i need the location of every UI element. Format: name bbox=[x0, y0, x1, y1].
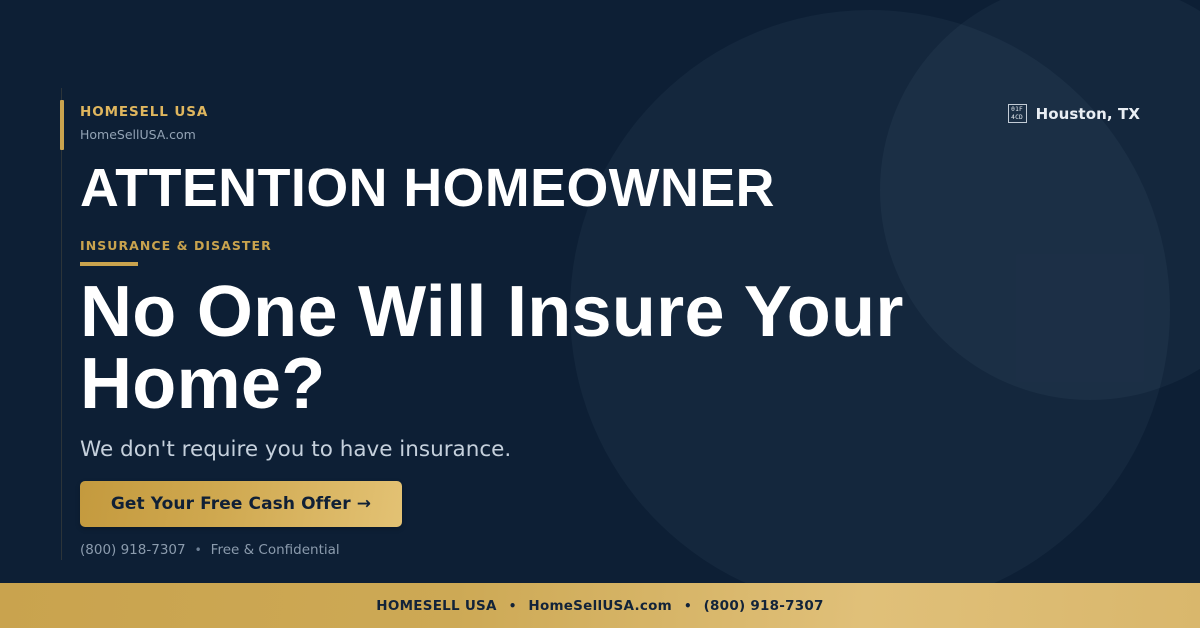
footer-separator-two: • bbox=[684, 599, 692, 613]
get-free-cash-offer-button[interactable]: Get Your Free Cash Offer → bbox=[80, 481, 402, 527]
page-title: No One Will Insure Your Home? bbox=[80, 276, 980, 420]
location-label: Houston, TX bbox=[1036, 105, 1140, 123]
trust-line: (800) 918-7307 • Free & Confidential bbox=[80, 541, 340, 559]
left-gold-accent-bar bbox=[60, 100, 64, 150]
footer-brand: HOMESELL USA bbox=[376, 598, 496, 614]
footer-website[interactable]: HomeSellUSA.com bbox=[528, 598, 672, 614]
left-hairline-divider bbox=[61, 88, 62, 560]
category-eyebrow: INSURANCE & DISASTER bbox=[80, 238, 272, 253]
footer-separator-one: • bbox=[509, 599, 517, 613]
subheadline: We don't require you to have insurance. bbox=[80, 436, 511, 464]
map-pin-icon: 01F 4CD bbox=[1008, 104, 1027, 123]
eyebrow-underline-rule bbox=[80, 262, 138, 266]
ad-banner: HOMESELL USA HomeSellUSA.com 01F 4CD Hou… bbox=[0, 0, 1200, 628]
footer-phone[interactable]: (800) 918-7307 bbox=[704, 598, 824, 614]
map-pin-icon-codepoint-low: 4CD bbox=[1011, 114, 1023, 121]
trust-separator: • bbox=[195, 541, 202, 559]
cta-label: Get Your Free Cash Offer → bbox=[111, 494, 371, 514]
brand-name: HOMESELL USA bbox=[80, 104, 208, 120]
location-badge: 01F 4CD Houston, TX bbox=[1008, 104, 1140, 123]
footer-bar: HOMESELL USA • HomeSellUSA.com • (800) 9… bbox=[0, 583, 1200, 628]
map-pin-icon-codepoint-high: 01F bbox=[1011, 106, 1023, 113]
trust-phone[interactable]: (800) 918-7307 bbox=[80, 541, 186, 559]
trust-note: Free & Confidential bbox=[211, 541, 340, 559]
brand-website: HomeSellUSA.com bbox=[80, 127, 208, 142]
attention-headline: ATTENTION HOMEOWNER bbox=[80, 158, 775, 218]
brand-block: HOMESELL USA HomeSellUSA.com bbox=[80, 104, 208, 142]
